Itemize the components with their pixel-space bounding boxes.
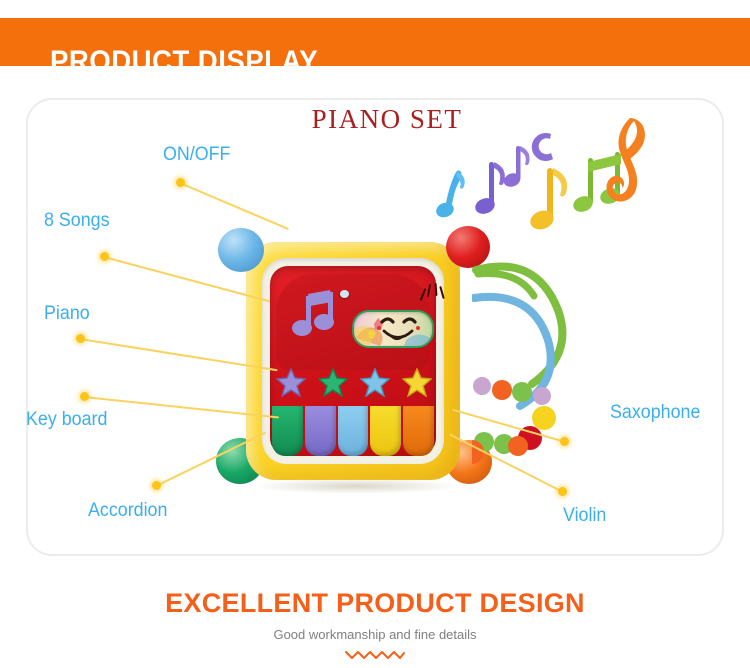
c-clef-purple-icon	[532, 133, 553, 161]
music-note-button-icon	[292, 288, 338, 342]
music-notes-decoration	[425, 110, 650, 235]
callout-label-saxophone: Saxophone	[610, 402, 700, 424]
wave-divider-icon	[0, 648, 750, 660]
callout-dot	[80, 392, 89, 401]
callout-dot	[176, 178, 185, 187]
footer-title: EXCELLENT PRODUCT DESIGN	[0, 588, 750, 619]
speaker-lines-icon	[422, 282, 444, 302]
piano-key-purple	[305, 406, 336, 456]
piano-key-blue	[338, 406, 369, 456]
callout-dot	[558, 487, 567, 496]
callout-label-violin: Violin	[563, 505, 606, 527]
callout-label-accordion: Accordion	[88, 500, 167, 522]
piano-key-green	[272, 406, 303, 456]
footer-subtitle: Good workmanship and fine details	[0, 627, 750, 642]
smiley-face-display	[352, 310, 434, 348]
header-banner: PRODUCT DISPLAY	[0, 18, 750, 66]
eighth-note-yellow-icon	[528, 168, 567, 233]
banner-title: PRODUCT DISPLAY	[50, 45, 318, 79]
eighth-note-purple-small-icon	[502, 146, 530, 189]
callout-dot	[76, 334, 85, 343]
eighth-note-purple-icon	[473, 162, 505, 216]
callout-label-piano: Piano	[44, 303, 90, 325]
product-display-page: PRODUCT DISPLAY PIANO SET	[0, 0, 750, 668]
callout-dot	[560, 437, 569, 446]
piano-keys	[272, 406, 434, 456]
star-blue-icon	[360, 368, 390, 397]
callout-label-on-off: ON/OFF	[163, 144, 230, 166]
callout-label-key-board: Key board	[26, 409, 107, 431]
star-button-row	[276, 368, 434, 400]
eighth-note-blue-icon	[434, 170, 465, 219]
ball-blue-icon	[218, 228, 264, 272]
star-green-icon	[318, 368, 348, 397]
bead-maze	[472, 256, 592, 486]
piano-key-orange	[403, 406, 434, 456]
callout-label-8-songs: 8 Songs	[44, 210, 110, 232]
callout-dot	[152, 481, 161, 490]
star-purple-icon	[276, 368, 306, 397]
piano-key-yellow	[370, 406, 401, 456]
callout-dot	[100, 252, 109, 261]
footer: EXCELLENT PRODUCT DESIGN Good workmanshi…	[0, 588, 750, 660]
star-yellow-icon	[402, 368, 432, 397]
indicator-light-icon	[340, 290, 349, 298]
toy-product-image	[206, 226, 506, 498]
toy-shadow	[252, 478, 460, 494]
